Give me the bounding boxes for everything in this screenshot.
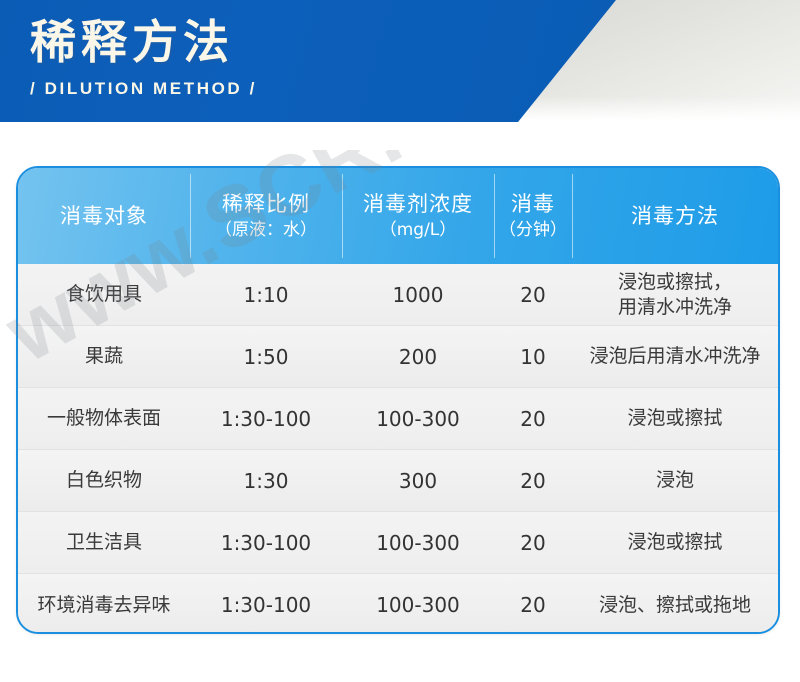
cell-ratio: 1:30-100 xyxy=(190,512,342,573)
cell-method-line1: 浸泡 xyxy=(656,468,694,493)
column-header-minutes-label: 消毒 xyxy=(511,191,555,217)
cell-ratio: 1:30-100 xyxy=(190,388,342,449)
cell-method: 浸泡或擦拭 xyxy=(572,388,778,449)
cell-method-line2: 用清水冲洗净 xyxy=(618,295,732,320)
page-title: 稀释方法 xyxy=(30,14,257,72)
cell-method-line1: 浸泡或擦拭 xyxy=(627,530,722,555)
cell-concentration: 1000 xyxy=(342,264,494,325)
column-header-object-label: 消毒对象 xyxy=(60,203,148,229)
table-body: 食饮用具 1:10 1000 20 浸泡或擦拭， 用清水冲洗净 果蔬 1:50 … xyxy=(18,264,778,634)
cell-object: 环境消毒去异味 xyxy=(18,574,190,634)
cell-method: 浸泡或擦拭 xyxy=(572,512,778,573)
page-banner: 稀释方法 / DILUTION METHOD / xyxy=(0,0,800,122)
table-row: 食饮用具 1:10 1000 20 浸泡或擦拭， 用清水冲洗净 xyxy=(18,264,778,326)
cell-object: 白色织物 xyxy=(18,450,190,511)
cell-method-line1: 浸泡或擦拭 xyxy=(627,406,722,431)
cell-minutes: 20 xyxy=(494,450,572,511)
cell-object: 食饮用具 xyxy=(18,264,190,325)
table-row: 果蔬 1:50 200 10 浸泡后用清水冲洗净 xyxy=(18,326,778,388)
cell-minutes: 20 xyxy=(494,388,572,449)
column-header-ratio-sublabel: （原液：水） xyxy=(215,220,317,240)
page-subtitle: / DILUTION METHOD / xyxy=(30,79,257,99)
column-header-method: 消毒方法 xyxy=(572,168,778,264)
cell-minutes: 20 xyxy=(494,264,572,325)
cell-concentration: 100-300 xyxy=(342,388,494,449)
cell-concentration: 100-300 xyxy=(342,512,494,573)
cell-concentration: 300 xyxy=(342,450,494,511)
cell-concentration: 100-300 xyxy=(342,574,494,634)
column-header-object: 消毒对象 xyxy=(18,168,190,264)
cell-method: 浸泡、擦拭或拖地 xyxy=(572,574,778,634)
column-header-ratio: 稀释比例 （原液：水） xyxy=(190,168,342,264)
cell-ratio: 1:30 xyxy=(190,450,342,511)
column-header-method-label: 消毒方法 xyxy=(631,203,719,229)
cell-minutes: 10 xyxy=(494,326,572,387)
cell-method: 浸泡后用清水冲洗净 xyxy=(572,326,778,387)
table-row: 卫生洁具 1:30-100 100-300 20 浸泡或擦拭 xyxy=(18,512,778,574)
cell-method: 浸泡或擦拭， 用清水冲洗净 xyxy=(572,264,778,325)
table-header-row: 消毒对象 稀释比例 （原液：水） 消毒剂浓度 （mg/L） 消毒 （分钟） 消毒… xyxy=(18,168,778,264)
cell-object: 一般物体表面 xyxy=(18,388,190,449)
dilution-method-table: 消毒对象 稀释比例 （原液：水） 消毒剂浓度 （mg/L） 消毒 （分钟） 消毒… xyxy=(16,166,780,634)
cell-minutes: 20 xyxy=(494,574,572,634)
cell-concentration: 200 xyxy=(342,326,494,387)
cell-object: 卫生洁具 xyxy=(18,512,190,573)
cell-ratio: 1:10 xyxy=(190,264,342,325)
banner-text-block: 稀释方法 / DILUTION METHOD / xyxy=(30,14,257,99)
table-row: 环境消毒去异味 1:30-100 100-300 20 浸泡、擦拭或拖地 xyxy=(18,574,778,634)
cell-object: 果蔬 xyxy=(18,326,190,387)
column-header-concentration-sublabel: （mg/L） xyxy=(380,220,457,240)
cell-minutes: 20 xyxy=(494,512,572,573)
cell-method-line1: 浸泡或擦拭， xyxy=(618,270,732,295)
column-header-minutes-sublabel: （分钟） xyxy=(499,220,567,240)
cell-method: 浸泡 xyxy=(572,450,778,511)
column-header-minutes: 消毒 （分钟） xyxy=(494,168,572,264)
table-row: 白色织物 1:30 300 20 浸泡 xyxy=(18,450,778,512)
column-header-concentration-label: 消毒剂浓度 xyxy=(363,191,473,217)
cell-method-line1: 浸泡、擦拭或拖地 xyxy=(599,593,751,618)
cell-ratio: 1:30-100 xyxy=(190,574,342,634)
column-header-ratio-label: 稀释比例 xyxy=(222,191,310,217)
cell-ratio: 1:50 xyxy=(190,326,342,387)
column-header-concentration: 消毒剂浓度 （mg/L） xyxy=(342,168,494,264)
cell-method-line1: 浸泡后用清水冲洗净 xyxy=(589,344,760,369)
table-row: 一般物体表面 1:30-100 100-300 20 浸泡或擦拭 xyxy=(18,388,778,450)
